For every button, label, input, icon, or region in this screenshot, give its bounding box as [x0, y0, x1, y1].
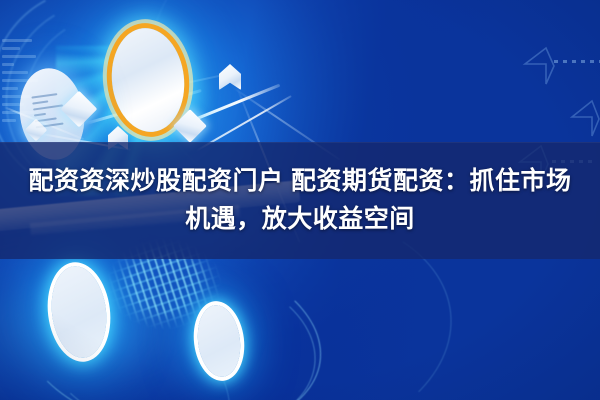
- plane-silhouette-icon: [564, 98, 600, 140]
- banner-headline: 配资资深炒股配资门户 配资期货配资：抓住市场 机遇，放大收益空间: [0, 142, 600, 259]
- banner-image: 配资资深炒股配资门户 配资期货配资：抓住市场 机遇，放大收益空间: [0, 0, 600, 400]
- plane-silhouette-icon: [516, 44, 556, 88]
- headline-line-2: 机遇，放大收益空间: [185, 202, 415, 238]
- headline-line-1: 配资资深炒股配资门户 配资期货配资：抓住市场: [29, 164, 572, 200]
- plane-trail-dots: [554, 60, 600, 63]
